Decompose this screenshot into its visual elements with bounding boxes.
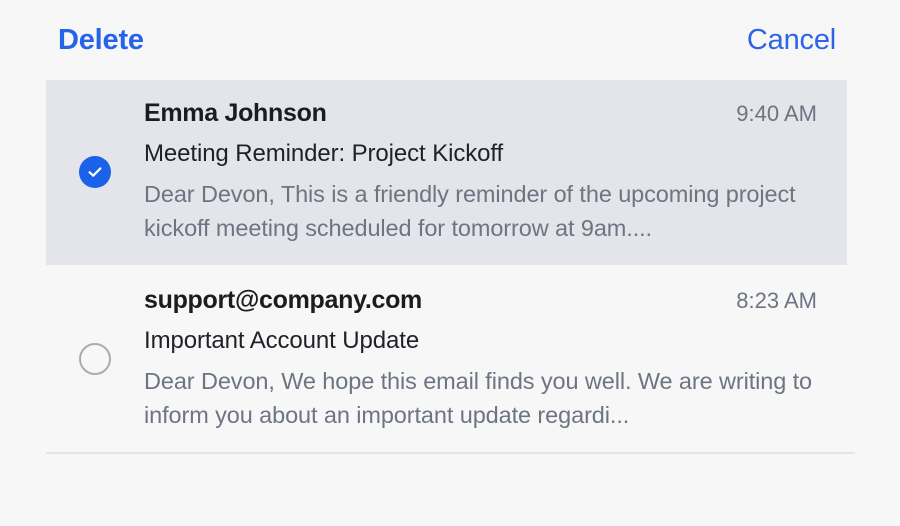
message-list-item[interactable]: support@company.com 8:23 AM Important Ac… (46, 267, 847, 452)
delete-button[interactable]: Delete (58, 26, 144, 55)
list-divider (46, 452, 855, 454)
cancel-button[interactable]: Cancel (747, 26, 836, 55)
message-sender: Emma Johnson (144, 99, 327, 129)
selection-toolbar: Delete Cancel (0, 0, 900, 80)
message-content: Emma Johnson 9:40 AM Meeting Reminder: P… (144, 96, 847, 245)
message-list: Emma Johnson 9:40 AM Meeting Reminder: P… (0, 80, 900, 454)
message-preview: Dear Devon, We hope this email finds you… (144, 365, 817, 432)
message-list-item[interactable]: Emma Johnson 9:40 AM Meeting Reminder: P… (46, 80, 847, 265)
message-timestamp: 9:40 AM (736, 101, 817, 127)
message-sender: support@company.com (144, 286, 422, 316)
message-header-line: support@company.com 8:23 AM (144, 286, 817, 316)
circle-outline-icon[interactable] (79, 343, 111, 375)
message-content: support@company.com 8:23 AM Important Ac… (144, 283, 847, 432)
message-subject: Meeting Reminder: Project Kickoff (144, 140, 817, 169)
select-column (46, 343, 144, 375)
message-subject: Important Account Update (144, 327, 817, 356)
select-column (46, 156, 144, 188)
message-timestamp: 8:23 AM (736, 288, 817, 314)
check-circle-filled-icon[interactable] (79, 156, 111, 188)
message-preview: Dear Devon, This is a friendly reminder … (144, 178, 817, 245)
message-header-line: Emma Johnson 9:40 AM (144, 99, 817, 129)
